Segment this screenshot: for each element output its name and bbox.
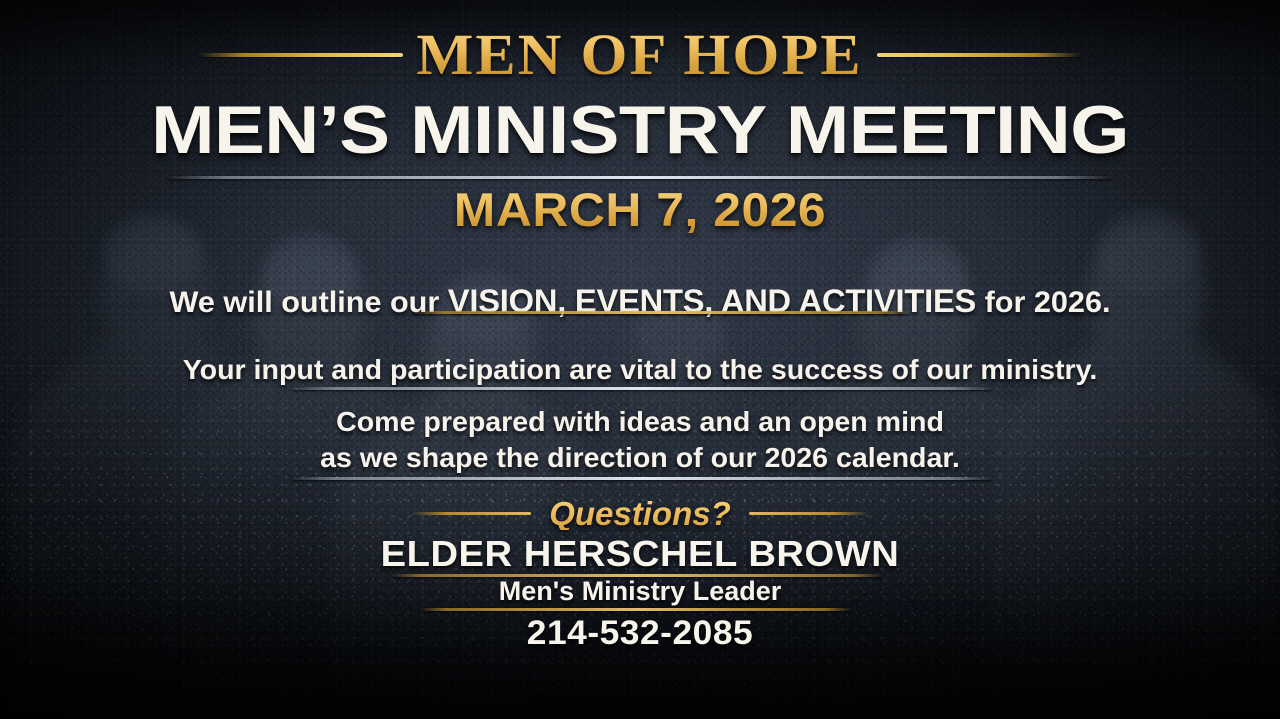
event-date: MARCH 7, 2026 — [0, 186, 1280, 233]
body-line-3a: Come prepared with ideas and an open min… — [0, 404, 1280, 440]
body-line-3b: as we shape the direction of our 2026 ca… — [0, 440, 1280, 476]
page-title: MEN’S MINISTRY MEETING — [0, 96, 1280, 165]
body-line-3: Come prepared with ideas and an open min… — [0, 404, 1280, 476]
flyer-canvas: MEN OF HOPE MEN’S MINISTRY MEETING MARCH… — [0, 0, 1280, 719]
divider-under-title — [168, 176, 1112, 179]
organization-name: MEN OF HOPE — [417, 26, 863, 84]
gold-rule-left-icon — [198, 53, 403, 57]
gold-underline-emphasis — [414, 311, 910, 314]
body-line-2: Your input and participation are vital t… — [0, 352, 1280, 388]
gold-rule-questions-left-icon — [411, 512, 531, 515]
gold-rule-right-icon — [877, 53, 1082, 57]
contact-name: ELDER HERSCHEL BROWN — [0, 536, 1280, 572]
body-line-1: We will outline our VISION, EVENTS, AND … — [0, 281, 1280, 322]
kicker-row: MEN OF HOPE — [0, 26, 1280, 84]
body-line-1-suffix: for 2026. — [976, 286, 1110, 319]
flyer-content: MEN OF HOPE MEN’S MINISTRY MEETING MARCH… — [0, 0, 1280, 719]
contact-role: Men's Ministry Leader — [0, 578, 1280, 605]
body-line-1-prefix: We will outline our — [170, 286, 448, 319]
divider-above-closing-block — [292, 387, 992, 390]
divider-below-closing-block — [292, 477, 992, 480]
gold-underline-contact-role — [420, 608, 852, 611]
questions-row: Questions? — [0, 497, 1280, 530]
questions-label: Questions? — [549, 497, 731, 530]
gold-rule-questions-right-icon — [749, 512, 869, 515]
contact-phone[interactable]: 214-532-2085 — [0, 616, 1280, 650]
